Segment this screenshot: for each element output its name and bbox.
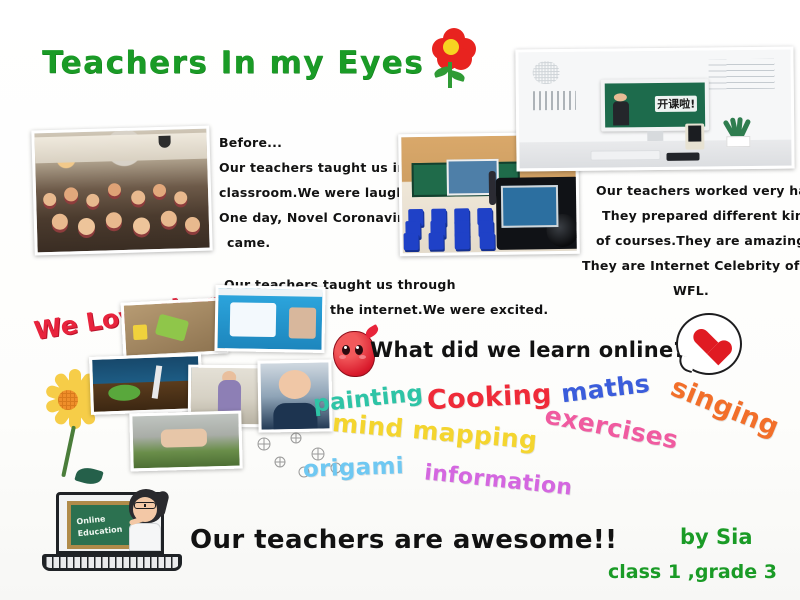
right-line: WFL. — [596, 278, 786, 303]
word-cloud-item: maths — [560, 369, 652, 409]
collage-photo — [89, 353, 203, 415]
right-line: They prepared different kinds — [596, 203, 800, 228]
bean-blush-left — [339, 355, 346, 359]
collage-photo — [121, 297, 229, 358]
photo-students — [34, 129, 209, 253]
right-paragraph: Our teachers worked very hard. They prep… — [596, 178, 800, 303]
word-cloud-item: origami — [303, 453, 405, 483]
phone-on-stand — [685, 124, 704, 150]
laptop-illustration: OnlineEducation — [42, 492, 182, 576]
right-line: They are Internet Celebrity of — [582, 253, 800, 278]
flower-icon — [426, 28, 478, 90]
keyboard — [590, 150, 661, 161]
word-cloud-item: exercises — [542, 400, 680, 454]
poster-canvas: Teachers In my Eyes — [0, 0, 800, 600]
sunflower-stem — [61, 426, 76, 478]
decor-scribble-right — [709, 59, 775, 90]
page-title: Teachers In my Eyes — [42, 45, 424, 81]
collage-photo — [129, 411, 242, 472]
flower-center — [443, 39, 459, 55]
photo-desk-setup: 开课啦! — [515, 47, 794, 172]
decor-scribble-left — [532, 91, 576, 110]
bean-mascot-icon — [333, 331, 375, 377]
right-line: Our teachers worked very hard. — [596, 178, 800, 203]
tablet — [666, 153, 699, 161]
collage-photo — [214, 285, 325, 353]
signature-class: class 1 ,grade 3 — [608, 561, 777, 583]
photo-class-crowd — [31, 126, 212, 256]
closing-heading: Our teachers are awesome!! — [190, 525, 617, 555]
sunflower-leaf — [74, 465, 103, 488]
bean-eye-right — [355, 345, 363, 355]
word-cloud-item: Cooking — [426, 379, 552, 416]
heart-icon — [693, 330, 723, 358]
signature-author: by Sia — [680, 525, 753, 549]
bean-leaf-icon — [364, 324, 381, 339]
speech-bubble-heart — [676, 313, 742, 375]
word-cloud-item: information — [423, 460, 573, 500]
glasses-icon — [134, 502, 156, 509]
right-line: of courses.They are amazing! — [596, 228, 800, 253]
word-cloud-item: singing — [666, 372, 783, 443]
monitor-screen-text: 开课啦! — [655, 96, 697, 112]
sunflower-center — [58, 390, 78, 410]
chalkboard-text: OnlineEducation — [76, 512, 123, 541]
laptop-screen: OnlineEducation — [56, 492, 164, 554]
bean-blush-right — [359, 355, 366, 359]
photo-video-camera — [496, 177, 580, 250]
question-heading: What did we learn online? — [370, 338, 686, 362]
laptop-keyboard — [42, 554, 182, 571]
